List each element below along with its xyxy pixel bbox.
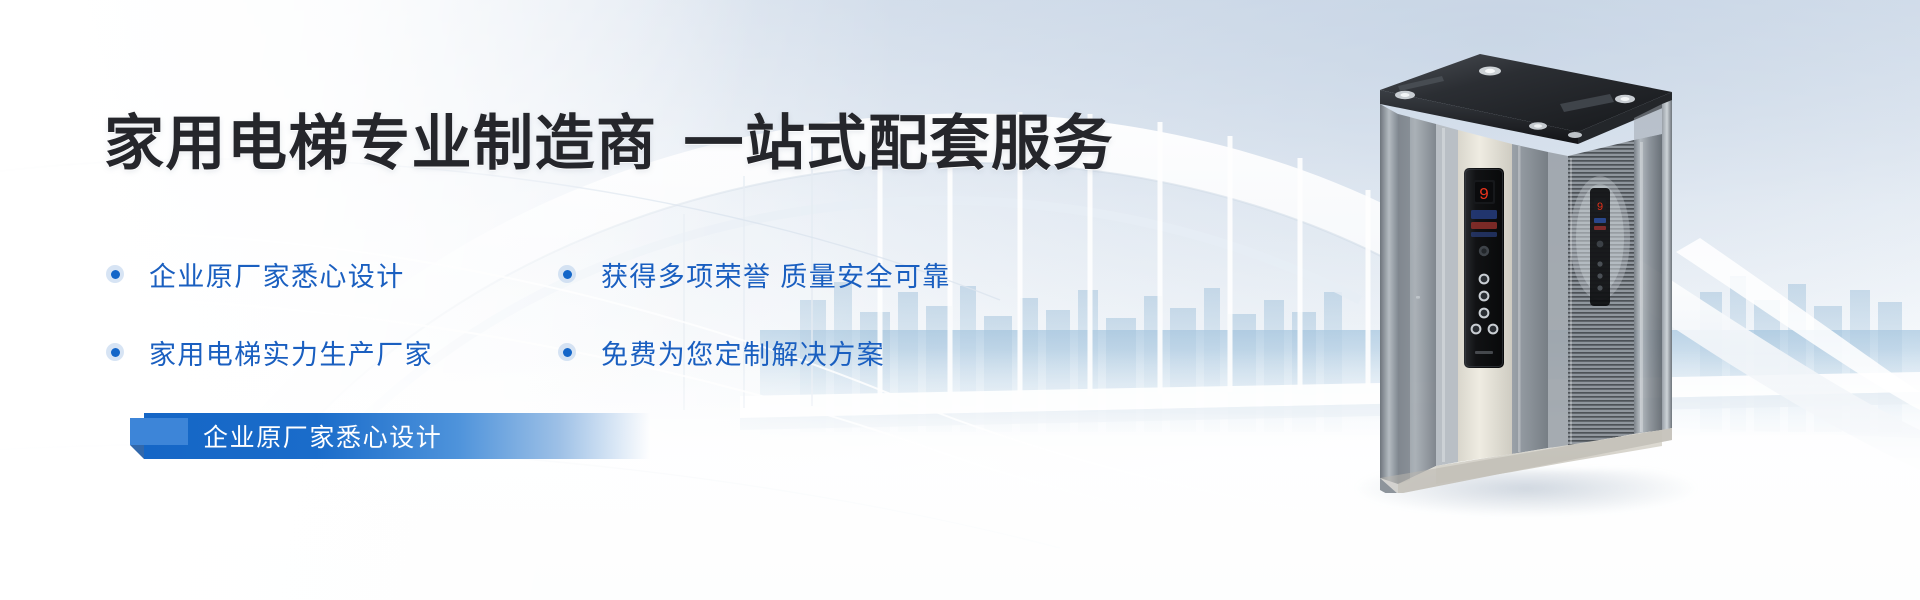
headline-part-1: 家用电梯专业制造商 (104, 110, 658, 177)
feature-label: 企业原厂家悉心设计 (149, 255, 405, 294)
feature-list: 企业原厂家悉心设计 获得多项荣誉 质量安全可靠 家用电梯实力生产厂家 免费为您定… (106, 255, 1006, 371)
hero-banner: 家用电梯专业制造商一站式配套服务 企业原厂家悉心设计 获得多项荣誉 质量安全可靠… (0, 0, 1920, 600)
banner-headline: 家用电梯专业制造商一站式配套服务 (104, 112, 1114, 177)
headline-part-2: 一站式配套服务 (684, 110, 1115, 177)
feature-item-2: 获得多项荣誉 质量安全可靠 (558, 255, 1010, 293)
feature-item-1: 企业原厂家悉心设计 (106, 255, 558, 293)
feature-label: 获得多项荣誉 质量安全可靠 (601, 255, 951, 294)
reflected-floor-display: 9 (1597, 202, 1604, 214)
bullet-dot-icon (106, 343, 124, 361)
elevator-product-image: 9 9 (1372, 48, 1672, 493)
ribbon-label: 企业原厂家悉心设计 (203, 413, 442, 459)
feature-label: 家用电梯实力生产厂家 (149, 333, 433, 372)
bullet-dot-icon (106, 265, 124, 283)
feature-item-3: 家用电梯实力生产厂家 (106, 333, 558, 371)
bullet-dot-icon (558, 343, 576, 361)
floor-display: 9 (1479, 186, 1489, 205)
ribbon-tag[interactable]: 企业原厂家悉心设计 (130, 413, 650, 459)
ribbon-tab-icon (130, 418, 188, 445)
feature-label: 免费为您定制解决方案 (601, 333, 885, 372)
bullet-dot-icon (558, 265, 576, 283)
ribbon-fold-notch-icon (130, 445, 144, 459)
feature-item-4: 免费为您定制解决方案 (558, 333, 1010, 371)
